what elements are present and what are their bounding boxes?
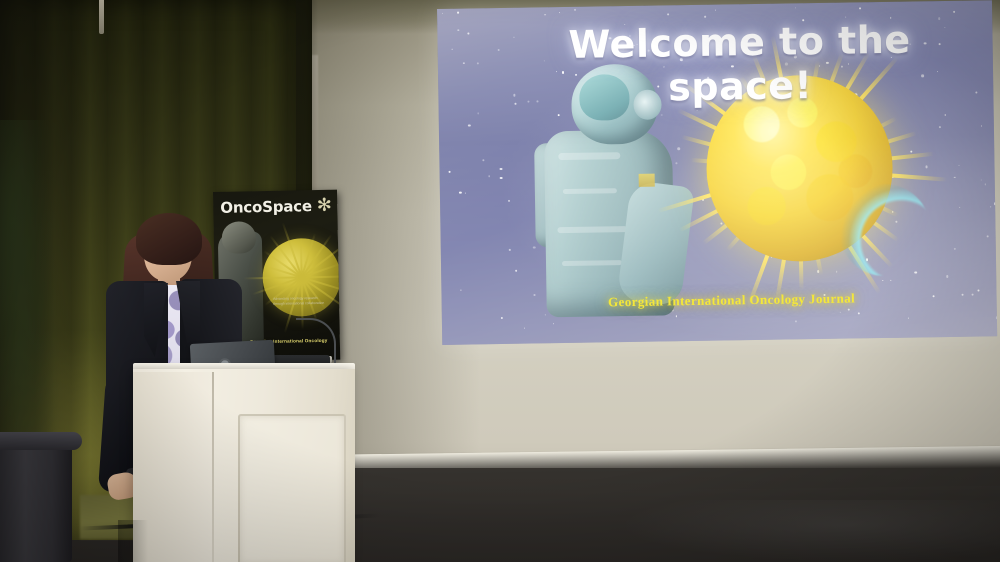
presentation-scene: Welcome to the space! Georgian Internati…	[0, 0, 1000, 562]
podium-shadow	[118, 520, 148, 562]
waste-bin-rim	[0, 432, 82, 450]
banner-body-text: Advancing oncology research through inte…	[273, 296, 329, 307]
dna-logo-icon: ✻	[314, 194, 334, 218]
slide-title: Welcome to the space!	[509, 17, 970, 112]
plant-foliage	[0, 120, 60, 450]
projected-slide[interactable]: Welcome to the space! Georgian Internati…	[437, 0, 997, 345]
podium-front-panel	[238, 414, 346, 562]
floor-light-reflection	[620, 500, 1000, 562]
hair-top	[136, 213, 202, 265]
podium-corner-seam	[212, 372, 214, 562]
pendant-light-icon	[99, 0, 104, 34]
waste-bin	[0, 437, 72, 562]
